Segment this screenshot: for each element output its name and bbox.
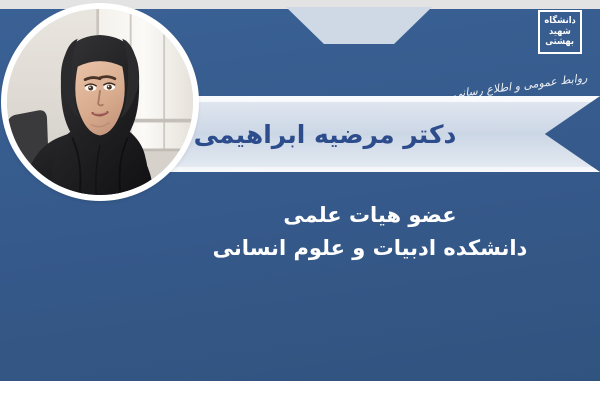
logo-mark-line-1: دانشگاه xyxy=(544,17,575,26)
profile-banner-card: دکتر مرضیه ابراهیمی xyxy=(0,0,600,400)
logo-mark-lines: دانشگاه شهید بهشتی xyxy=(543,15,577,49)
faculty-name: دانشکده ادبیات و علوم انسانی xyxy=(160,233,580,263)
logo-mark-icon: دانشگاه شهید بهشتی xyxy=(538,10,582,54)
subtitle-block: عضو هیات علمی دانشکده ادبیات و علوم انسا… xyxy=(160,200,580,264)
role-title: عضو هیات علمی xyxy=(160,200,580,230)
logo-mark-line-3: بهشتی xyxy=(546,38,575,47)
university-logo: دانشگاه شهید بهشتی روابط عمومی و اطلاع ر… xyxy=(494,8,590,84)
logo-mark-line-2: شهید xyxy=(549,28,571,37)
avatar xyxy=(4,6,196,198)
portrait-illustration xyxy=(7,9,193,195)
portrait-photo xyxy=(7,9,193,195)
